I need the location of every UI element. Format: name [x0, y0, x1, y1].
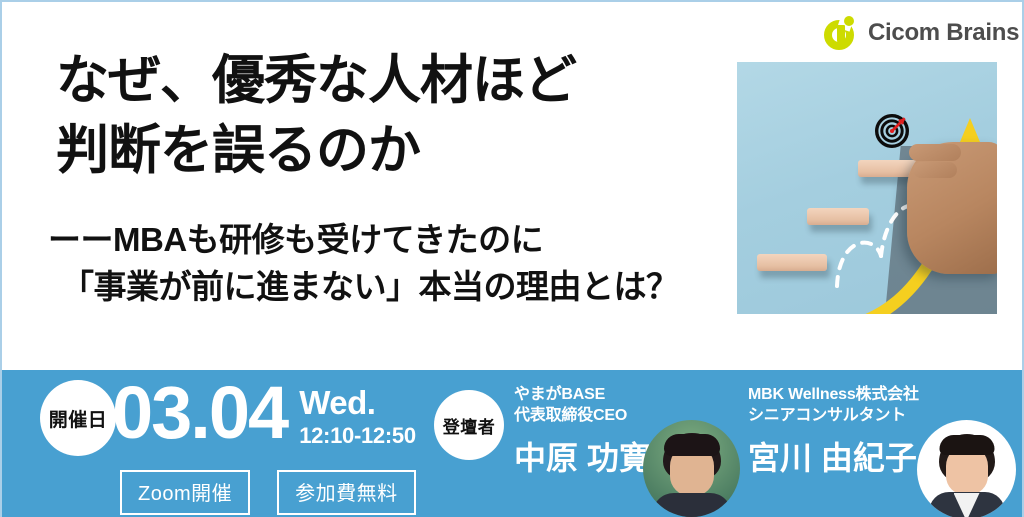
brand-logo-text: Cicom Brains [868, 19, 1019, 47]
speaker-badge: 登壇者 [434, 390, 504, 460]
title-line-2: 判断を誤るのか [56, 116, 716, 186]
hero-finger-1 [909, 144, 961, 161]
date-badge: 開催日 [40, 380, 116, 456]
event-date-number: 03.04 [112, 372, 287, 455]
event-tag-row: Zoom開催 参加費無料 [120, 470, 416, 515]
tag-zoom[interactable]: Zoom開催 [120, 470, 250, 515]
cicom-brains-logo-icon [824, 16, 858, 50]
speaker-2-avatar [917, 420, 1016, 517]
event-day-of-week: Wed. [299, 386, 416, 421]
page-subtitle: ーーMBAも研修も受けてきたのに 「事業が前に進まない」本当の理由とは？ [48, 217, 738, 311]
title-line-1: なぜ、優秀な人材ほど [56, 46, 716, 116]
event-footer: 開催日 03.04 Wed. 12:10-12:50 Zoom開催 参加費無料 … [2, 370, 1024, 517]
subtitle-line-2: 「事業が前に進まない」本当の理由とは？ [48, 264, 738, 311]
event-date-detail: Wed. 12:10-12:50 [299, 372, 416, 450]
hero-block-2 [807, 208, 869, 225]
page-title: なぜ、優秀な人材ほど 判断を誤るのか [56, 46, 716, 186]
hero-image [737, 62, 997, 314]
event-time-range: 12:10-12:50 [299, 421, 416, 451]
hero-block-1 [757, 254, 827, 271]
event-date-block: 03.04 Wed. 12:10-12:50 [112, 372, 416, 455]
brand-logo[interactable]: Cicom Brains [824, 16, 1019, 50]
hero-target-icon [875, 114, 909, 148]
speaker-2-org-line-1: MBK Wellness株式会社 [738, 384, 1018, 405]
webinar-banner: Cicom Brains なぜ、優秀な人材ほど 判断を誤るのか ーーMBAも研修… [0, 0, 1024, 517]
subtitle-line-1: ーーMBAも研修も受けてきたのに [48, 217, 738, 264]
hero-finger-2 [913, 162, 957, 178]
speaker-1-avatar [643, 420, 740, 517]
speaker-1-org-line-1: やまがBASE [510, 384, 740, 405]
tag-free[interactable]: 参加費無料 [277, 470, 416, 515]
